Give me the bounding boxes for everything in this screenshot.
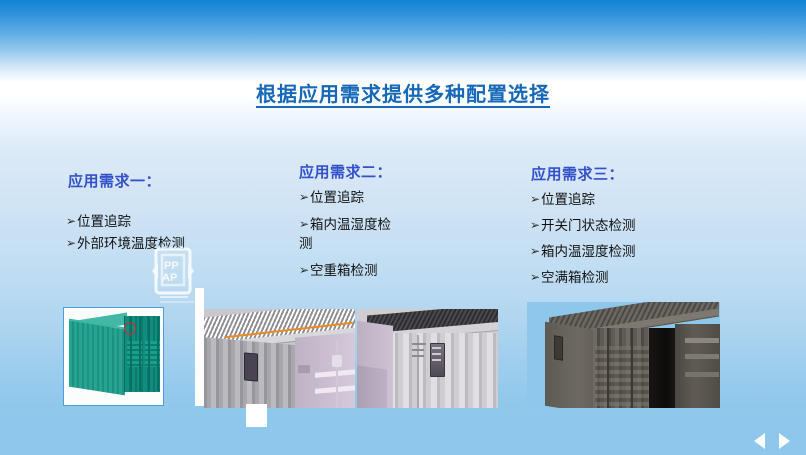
list-item: ➢位置追踪 bbox=[299, 188, 403, 207]
bullet-arrow-icon: ➢ bbox=[530, 191, 541, 208]
door-locking-bar bbox=[607, 328, 609, 408]
device-detail bbox=[432, 347, 441, 349]
white-divider-bar bbox=[195, 288, 204, 406]
list-item-label: 箱内温湿度检测 bbox=[541, 244, 636, 259]
container-corner-render bbox=[203, 309, 355, 408]
door-locking-bar bbox=[157, 317, 159, 391]
door-seam bbox=[417, 335, 419, 408]
device-detail bbox=[432, 359, 441, 361]
red-annotation-circle bbox=[124, 322, 136, 335]
list-item: ➢箱内温湿度检测 bbox=[299, 215, 403, 253]
bullet-arrow-icon: ➢ bbox=[299, 216, 310, 233]
list-item-label: 箱内温湿度检测 bbox=[299, 217, 391, 251]
container-door-render bbox=[357, 309, 498, 408]
list-item-label: 外部环境温度检测 bbox=[77, 236, 185, 251]
bullet-arrow-icon: ➢ bbox=[530, 243, 541, 260]
door-marking bbox=[412, 355, 424, 357]
list-item-label: 开关门状态检测 bbox=[541, 218, 636, 233]
open-door-interior bbox=[649, 328, 677, 408]
slide-navigation-bar bbox=[0, 427, 806, 455]
bullet-arrow-icon: ➢ bbox=[530, 269, 541, 286]
device-detail bbox=[432, 353, 441, 355]
list-item-label: 空重箱检测 bbox=[310, 263, 378, 278]
door-corrugation bbox=[595, 346, 649, 406]
column-3-bullet-list: ➢位置追踪 ➢开关门状态检测 ➢箱内温湿度检测 ➢空满箱检测 bbox=[530, 190, 636, 295]
list-item: ➢空满箱检测 bbox=[530, 268, 636, 287]
column-3-heading: 应用需求三： bbox=[531, 163, 624, 184]
door-locking-bar bbox=[631, 328, 633, 408]
list-item-label: 空满箱检测 bbox=[541, 270, 609, 285]
side-handle bbox=[554, 335, 563, 360]
presentation-slide: 根据应用需求提供多种配置选择 应用需求一： ➢位置追踪 ➢外部环境温度检测 应用… bbox=[0, 0, 806, 455]
photo-inner bbox=[67, 311, 160, 402]
list-item-label: 位置追踪 bbox=[541, 192, 595, 207]
door-rod-handle bbox=[332, 355, 342, 367]
door-rod bbox=[336, 339, 338, 407]
bullet-arrow-icon: ➢ bbox=[530, 217, 541, 234]
page-title: 根据应用需求提供多种配置选择 bbox=[0, 78, 806, 107]
door-locking-bar bbox=[148, 317, 150, 391]
bullet-arrow-icon: ➢ bbox=[299, 189, 310, 206]
dark-container-render bbox=[527, 302, 720, 408]
list-item: ➢箱内温湿度检测 bbox=[530, 242, 636, 261]
sensor-device bbox=[244, 352, 258, 381]
door-locking-bar bbox=[139, 317, 141, 391]
column-1-heading: 应用需求一： bbox=[68, 170, 161, 191]
container-left-panel-lower bbox=[357, 364, 387, 408]
door-stripe bbox=[685, 372, 719, 377]
bullet-arrow-icon: ➢ bbox=[299, 262, 310, 279]
svg-text:AP: AP bbox=[162, 272, 177, 284]
previous-slide-icon[interactable] bbox=[754, 433, 765, 449]
white-divider-block bbox=[246, 404, 267, 428]
list-item: ➢外部环境温度检测 bbox=[66, 234, 185, 253]
door-stripe bbox=[685, 338, 719, 343]
swung-open-door bbox=[675, 324, 720, 408]
column-2-heading: 应用需求二： bbox=[299, 161, 392, 182]
list-item: ➢位置追踪 bbox=[66, 212, 185, 231]
door-clip bbox=[298, 365, 310, 373]
list-item-label: 位置追踪 bbox=[77, 214, 131, 229]
list-item: ➢位置追踪 bbox=[530, 190, 636, 209]
bullet-arrow-icon: ➢ bbox=[66, 235, 77, 252]
list-item-label: 位置追踪 bbox=[310, 190, 364, 205]
column-2-bullet-list: ➢位置追踪 ➢箱内温湿度检测 ➢空重箱检测 bbox=[299, 188, 403, 289]
door-marking bbox=[412, 349, 424, 351]
teal-container-photo bbox=[63, 307, 164, 406]
svg-text:PP: PP bbox=[164, 260, 179, 272]
list-item: ➢空重箱检测 bbox=[299, 261, 403, 280]
door-marking bbox=[412, 343, 426, 345]
column-1-bullet-list: ➢位置追踪 ➢外部环境温度检测 bbox=[66, 212, 185, 256]
container-side-panel bbox=[69, 319, 125, 396]
door-stripe bbox=[685, 354, 719, 359]
next-slide-icon[interactable] bbox=[779, 433, 790, 449]
list-item: ➢开关门状态检测 bbox=[530, 216, 636, 235]
bullet-arrow-icon: ➢ bbox=[66, 213, 77, 230]
